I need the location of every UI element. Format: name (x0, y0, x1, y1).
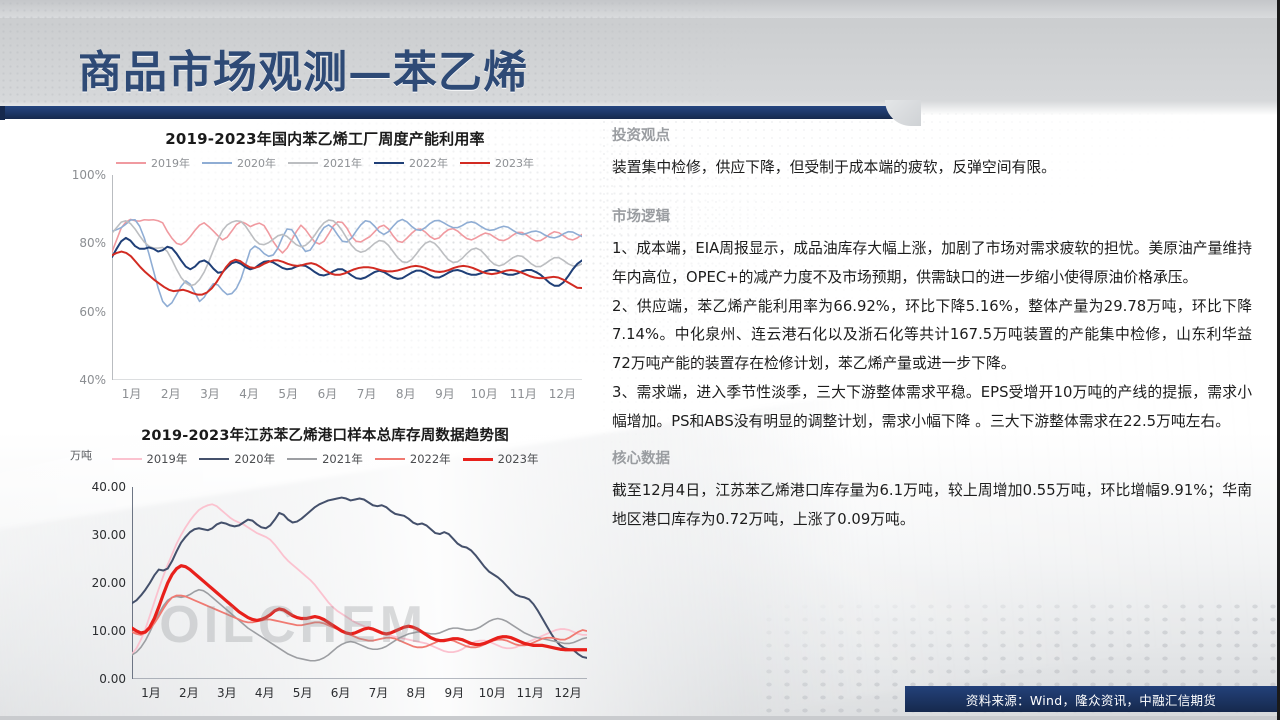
chart-capacity-utilization: 2019-2023年国内苯乙烯工厂周度产能利用率 2019年2020年2021年… (60, 128, 590, 406)
x-axis-tick-label: 2月 (161, 385, 181, 402)
x-axis-tick-label: 4月 (239, 385, 259, 402)
legend-swatch-line (287, 458, 317, 460)
x-axis-tick-label: 4月 (255, 684, 275, 701)
y-axis-tick-label: 30.00 (92, 528, 126, 542)
legend-label: 2020年 (234, 451, 275, 467)
paragraph: 1、成本端，EIA周报显示，成品油库存大幅上涨，加剧了市场对需求疲软的担忧。美原… (612, 235, 1252, 293)
chart-legend: 2019年2020年2021年2022年2023年 (60, 451, 590, 467)
chart-svg (112, 175, 582, 380)
legend-label: 2022年 (409, 155, 448, 171)
y-axis-tick-label: 100% (72, 168, 106, 182)
x-axis-tick-label: 7月 (357, 385, 377, 402)
charts-column: 2019-2023年国内苯乙烯工厂周度产能利用率 2019年2020年2021年… (60, 128, 590, 708)
slide-header: 商品市场观测—苯乙烯 (0, 0, 1280, 122)
legend-item: 2020年 (202, 155, 276, 171)
analysis-text-column: 投资观点 装置集中检修，供应下降，但受制于成本端的疲软，反弹空间有限。 市场逻辑… (612, 124, 1252, 534)
x-axis-tick-label: 11月 (510, 385, 537, 402)
x-axis-tick-label: 10月 (470, 385, 497, 402)
section-heading: 市场逻辑 (612, 205, 1252, 226)
legend-swatch-line (112, 458, 142, 460)
header-left-stripe (0, 106, 5, 120)
paragraph: 3、需求端，进入季节性淡季，三大下游整体需求平稳。EPS受增开10万吨的产线的提… (612, 379, 1252, 437)
x-axis-tick-label: 9月 (444, 684, 464, 701)
x-axis-tick-label: 3月 (217, 684, 237, 701)
chart-title: 2019-2023年江苏苯乙烯港口样本总库存周数据趋势图 (60, 424, 590, 445)
source-bar: 资料来源：Wind，隆众资讯，中融汇信期货 (905, 686, 1277, 712)
section-heading: 核心数据 (612, 447, 1252, 468)
legend-label: 2023年 (495, 155, 534, 171)
y-axis-tick-label: 10.00 (92, 624, 126, 638)
paragraph: 截至12月4日，江苏苯乙烯港口库存量为6.1万吨，较上周增加0.55万吨，环比增… (612, 477, 1252, 535)
legend-item: 2019年 (112, 451, 188, 467)
legend-item: 2021年 (288, 155, 362, 171)
y-axis-tick-label: 0.00 (99, 672, 126, 686)
legend-swatch-line (460, 162, 490, 164)
section-body: 装置集中检修，供应下降，但受制于成本端的疲软，反弹空间有限。 (612, 154, 1252, 183)
x-axis-tick-label: 8月 (396, 385, 416, 402)
x-axis-tick-label: 5月 (278, 385, 298, 402)
legend-label: 2021年 (323, 155, 362, 171)
header-accent-bar (0, 106, 907, 119)
legend-swatch-line (202, 162, 232, 164)
legend-item: 2021年 (287, 451, 363, 467)
chart-svg (132, 487, 587, 679)
source-label: 资料来源：Wind，隆众资讯，中融汇信期货 (966, 690, 1216, 709)
legend-item: 2023年 (463, 451, 539, 467)
x-axis-tick-label: 10月 (479, 684, 506, 701)
legend-item: 2023年 (460, 155, 534, 171)
paragraph: 装置集中检修，供应下降，但受制于成本端的疲软，反弹空间有限。 (612, 154, 1252, 183)
section-investment-view: 投资观点 装置集中检修，供应下降，但受制于成本端的疲软，反弹空间有限。 (612, 124, 1252, 183)
x-axis-tick-label: 7月 (369, 684, 389, 701)
x-axis-tick-label: 6月 (318, 385, 338, 402)
legend-item: 2022年 (375, 451, 451, 467)
page-title: 商品市场观测—苯乙烯 (78, 36, 528, 100)
chart-unit-label: 万吨 (70, 447, 92, 463)
x-axis-tick-label: 9月 (435, 385, 455, 402)
legend-swatch-line (374, 162, 404, 164)
legend-label: 2020年 (237, 155, 276, 171)
legend-item: 2020年 (199, 451, 275, 467)
legend-swatch-line (375, 458, 405, 460)
legend-label: 2023年 (498, 451, 539, 467)
x-axis-tick-label: 1月 (122, 385, 142, 402)
legend-label: 2019年 (147, 451, 188, 467)
y-axis-tick-label: 40% (79, 373, 106, 387)
slide-root: 商品市场观测—苯乙烯 2019-2023年国内苯乙烯工厂周度产能利用率 2019… (0, 0, 1280, 720)
legend-label: 2021年 (322, 451, 363, 467)
section-market-logic: 市场逻辑 1、成本端，EIA周报显示，成品油库存大幅上涨，加剧了市场对需求疲软的… (612, 205, 1252, 437)
legend-swatch-line (116, 162, 146, 164)
chart-port-inventory: 2019-2023年江苏苯乙烯港口样本总库存周数据趋势图 2019年2020年2… (60, 424, 590, 705)
legend-swatch-line (463, 458, 493, 461)
x-axis-tick-label: 2月 (179, 684, 199, 701)
legend-label: 2022年 (410, 451, 451, 467)
header-accent-bar-tip (885, 100, 921, 126)
chart-series-line (132, 566, 587, 650)
paragraph: 2、供应端，苯乙烯产能利用率为66.92%，环比下降5.16%，整体产量为29.… (612, 293, 1252, 380)
legend-swatch-line (288, 162, 318, 164)
legend-swatch-line (199, 458, 229, 460)
y-axis-tick-label: 60% (79, 305, 106, 319)
x-axis-tick-label: 1月 (141, 684, 161, 701)
x-axis-tick-label: 11月 (516, 684, 543, 701)
section-heading: 投资观点 (612, 124, 1252, 145)
chart-plot-area: 万吨 OILCHEM 0.0010.0020.0030.0040.001月2月3… (132, 487, 587, 679)
chart-legend: 2019年2020年2021年2022年2023年 (60, 155, 590, 171)
legend-item: 2022年 (374, 155, 448, 171)
x-axis-tick-label: 8月 (407, 684, 427, 701)
section-body: 1、成本端，EIA周报显示，成品油库存大幅上涨，加剧了市场对需求疲软的担忧。美原… (612, 235, 1252, 437)
chart-series-line (112, 219, 582, 252)
legend-label: 2019年 (151, 155, 190, 171)
chart-plot-area: 40%60%80%100%1月2月3月4月5月6月7月8月9月10月11月12月 (112, 175, 582, 380)
section-body: 截至12月4日，江苏苯乙烯港口库存量为6.1万吨，较上周增加0.55万吨，环比增… (612, 477, 1252, 535)
chart-title: 2019-2023年国内苯乙烯工厂周度产能利用率 (60, 128, 590, 149)
x-axis-tick-label: 5月 (293, 684, 313, 701)
x-axis-tick-label: 12月 (554, 684, 581, 701)
legend-item: 2019年 (116, 155, 190, 171)
x-axis-tick-label: 12月 (549, 385, 576, 402)
section-core-data: 核心数据 截至12月4日，江苏苯乙烯港口库存量为6.1万吨，较上周增加0.55万… (612, 447, 1252, 535)
bottom-edge (0, 716, 1280, 720)
y-axis-tick-label: 20.00 (92, 576, 126, 590)
x-axis-tick-label: 6月 (331, 684, 351, 701)
x-axis-tick-label: 3月 (200, 385, 220, 402)
y-axis-tick-label: 40.00 (92, 480, 126, 494)
y-axis-tick-label: 80% (79, 236, 106, 250)
